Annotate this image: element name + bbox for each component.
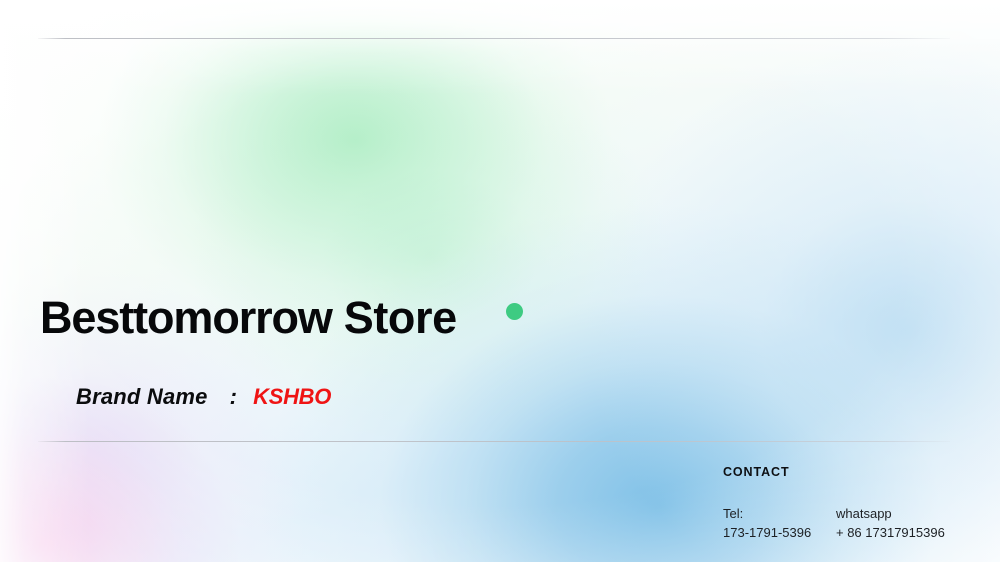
contact-heading: CONTACT — [723, 464, 953, 480]
contact-columns: Tel: 173-1791-5396 whatsapp + 86 1731791… — [723, 505, 953, 542]
page-title-primary-word: Besttomorrow — [40, 292, 332, 343]
slide-content: Besttomorrow Store Brand Name:KSHBO CONT… — [0, 0, 1000, 562]
green-dot-icon — [506, 303, 523, 320]
bottom-divider — [38, 441, 950, 442]
contact-whatsapp-label: whatsapp — [836, 505, 953, 524]
top-divider — [38, 38, 950, 39]
page-title-secondary-word: Store — [344, 292, 457, 343]
page-title: Besttomorrow Store — [40, 292, 457, 344]
contact-block: CONTACT Tel: 173-1791-5396 whatsapp + 86… — [723, 464, 953, 542]
contact-tel-label: Tel: — [723, 505, 836, 524]
contact-entry-whatsapp: whatsapp + 86 17317915396 — [836, 505, 953, 542]
brand-name-value: KSHBO — [253, 384, 331, 409]
contact-entry-tel: Tel: 173-1791-5396 — [723, 505, 836, 542]
page-title-space — [332, 292, 344, 343]
brand-name-row: Brand Name:KSHBO — [76, 382, 331, 412]
brand-name-separator: : — [208, 382, 254, 412]
brand-name-label: Brand Name — [76, 384, 208, 409]
slide-canvas: Besttomorrow Store Brand Name:KSHBO CONT… — [0, 0, 1000, 562]
contact-whatsapp-value[interactable]: + 86 17317915396 — [836, 524, 953, 543]
contact-tel-value[interactable]: 173-1791-5396 — [723, 524, 836, 543]
